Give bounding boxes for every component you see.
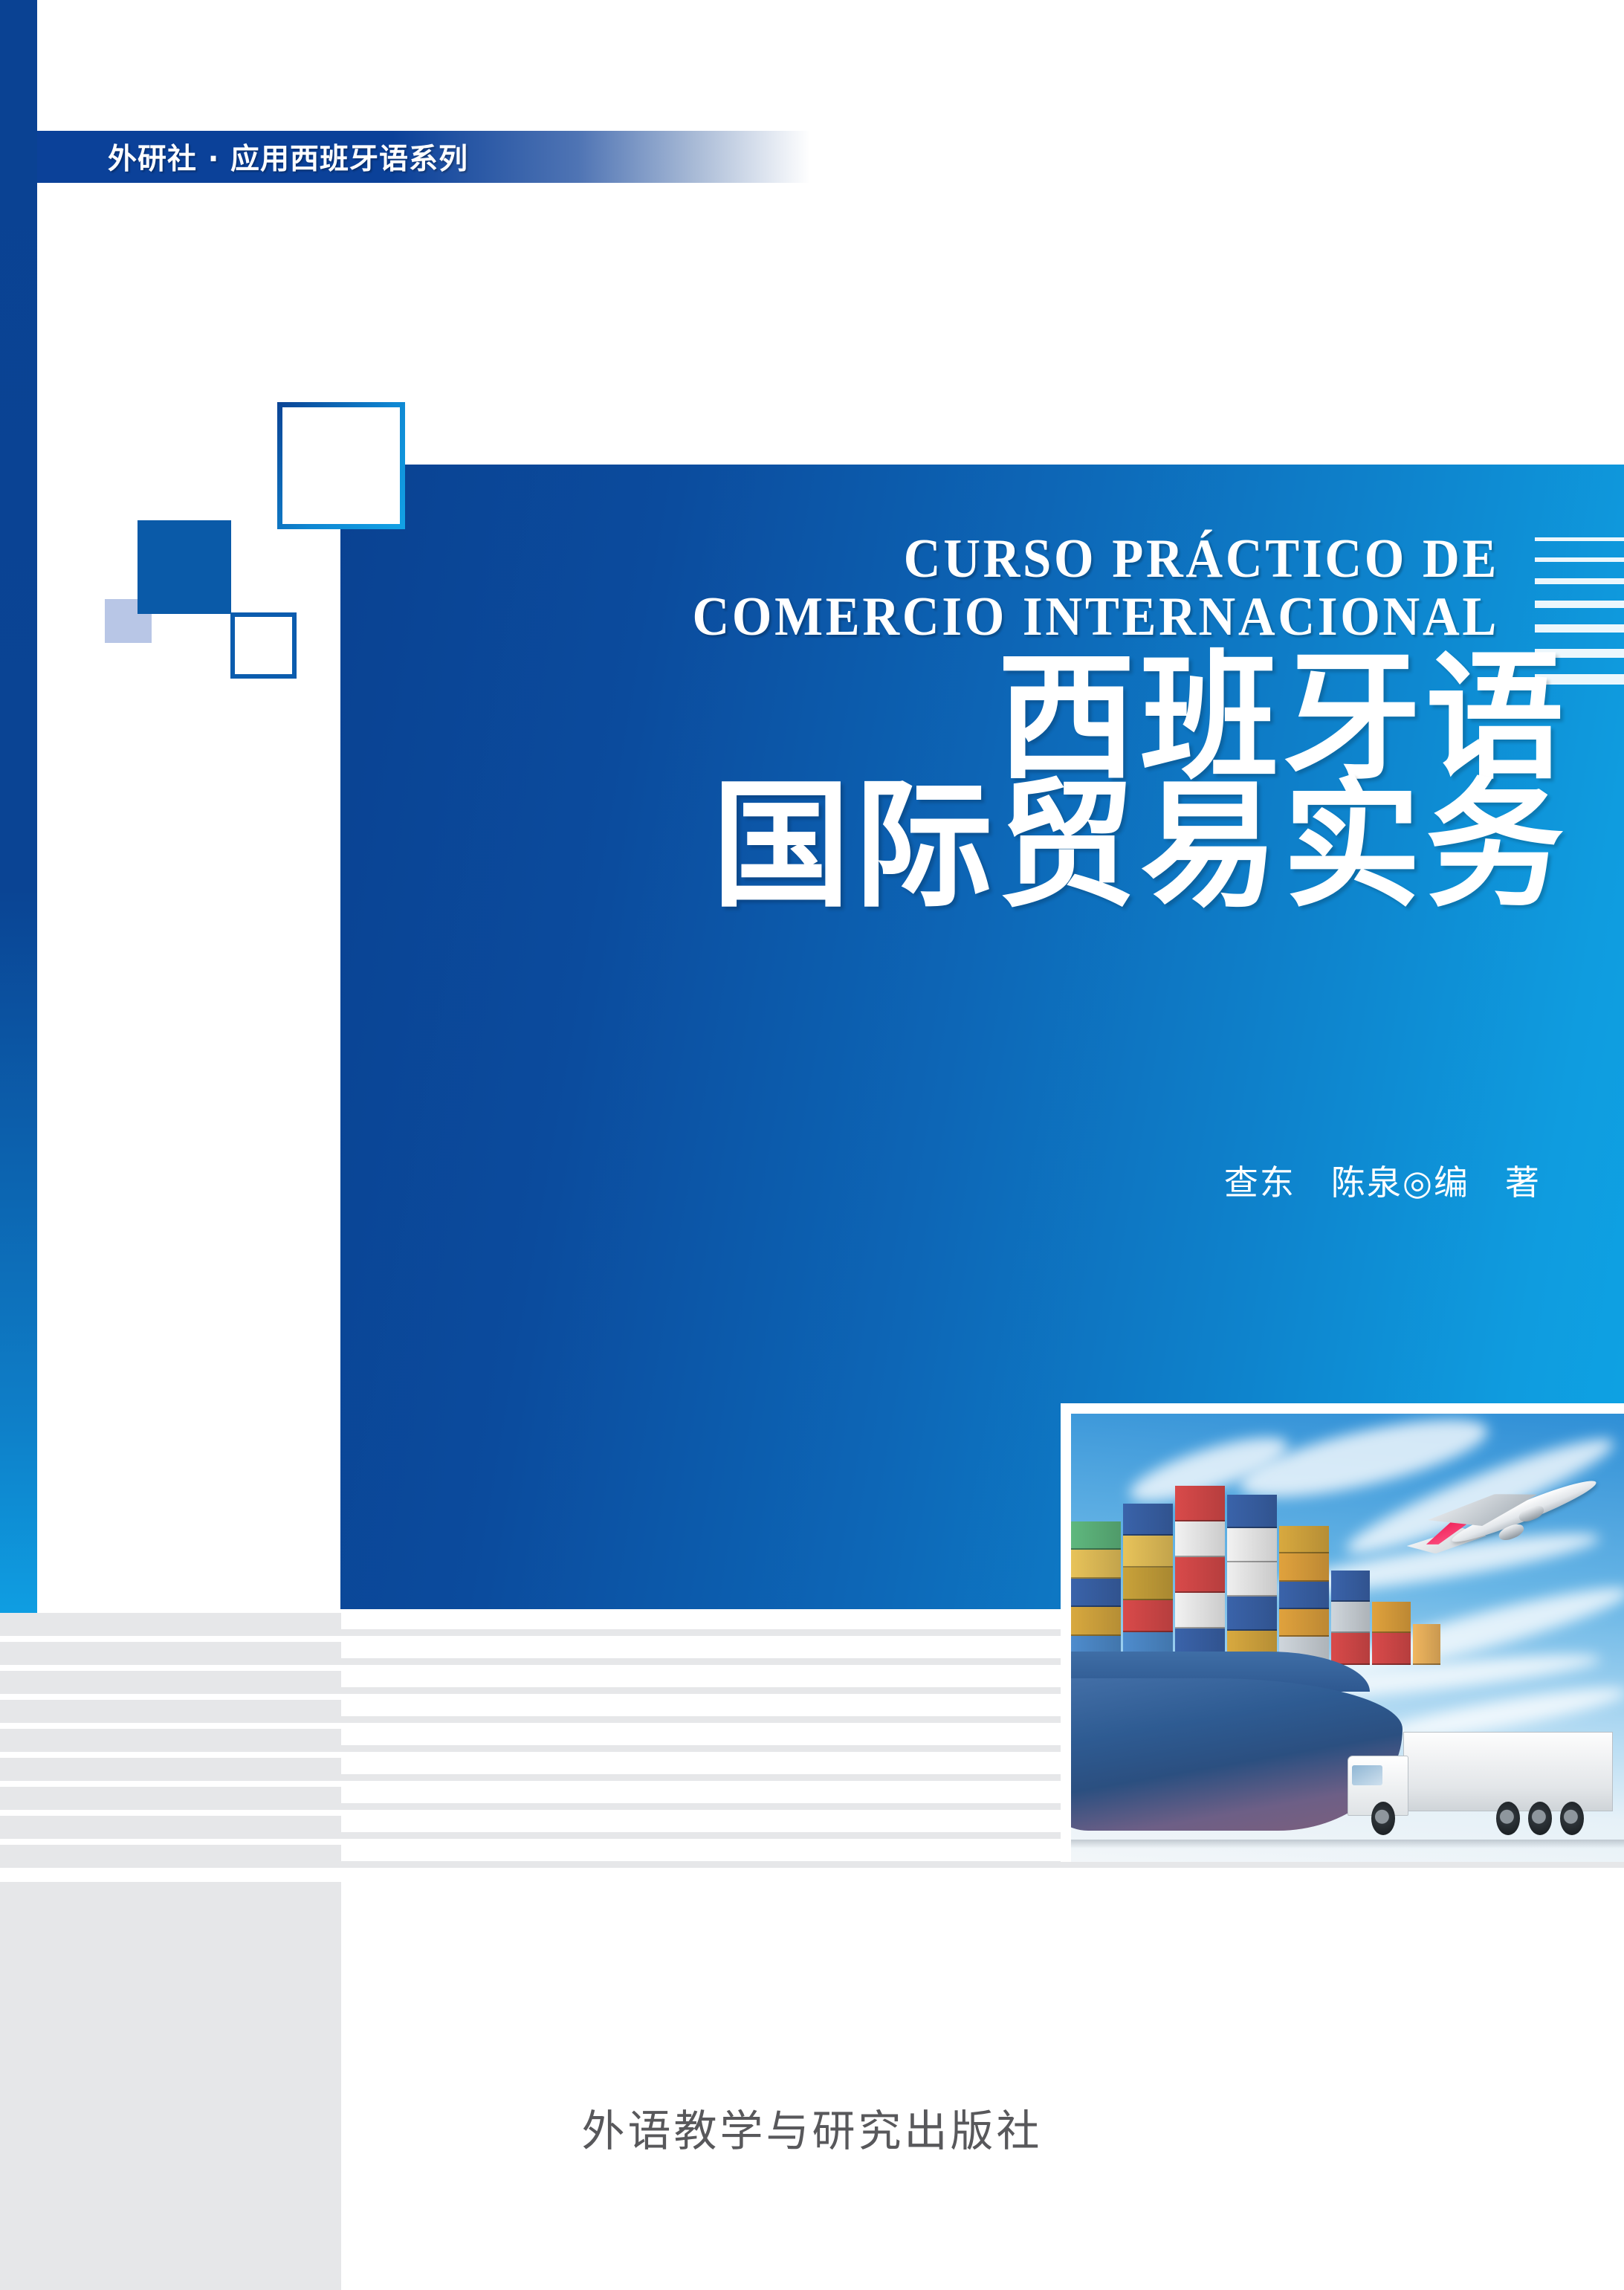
spine-accent-bar <box>0 0 37 1614</box>
decorative-rule <box>1535 624 1624 633</box>
decorative-rule <box>1535 537 1624 541</box>
chinese-title-line1: 西班牙语 <box>340 654 1568 782</box>
book-cover: 外研社 · 应用西班牙语系列 CURSO PRÁCTICO DE COMERCI… <box>0 0 1624 2290</box>
stripe-left-segment <box>0 1787 341 1810</box>
decorative-outline-square-large <box>277 402 405 529</box>
shipping-container <box>1413 1624 1440 1664</box>
shipping-container <box>1331 1633 1370 1664</box>
stripe-left-segment <box>0 1671 341 1694</box>
stripe-left-segment <box>0 1642 341 1665</box>
author-line: 查东 陈泉◎编 著 <box>340 1156 1541 1205</box>
decorative-rule <box>1535 557 1624 562</box>
shipping-container <box>1071 1607 1121 1636</box>
stripe-left-segment <box>0 1729 341 1752</box>
shipping-container <box>1123 1600 1173 1632</box>
cover-photo-frame <box>1061 1403 1624 1862</box>
truck-wheel <box>1560 1802 1584 1835</box>
truck-wheel <box>1528 1802 1552 1835</box>
shipping-container <box>1175 1486 1225 1521</box>
chinese-title: 西班牙语 国际贸易实务 <box>340 654 1568 910</box>
truck-wheel <box>1371 1802 1395 1835</box>
shipping-container <box>1331 1602 1370 1633</box>
shipping-container <box>1227 1495 1277 1529</box>
freight-truck-icon <box>1348 1727 1613 1835</box>
shipping-container <box>1175 1521 1225 1557</box>
container-stack <box>1413 1624 1440 1664</box>
shipping-container <box>1227 1528 1277 1562</box>
truck-windshield <box>1352 1765 1383 1785</box>
cargo-airplane-icon <box>1403 1467 1602 1584</box>
shipping-container <box>1071 1550 1121 1579</box>
shipping-container <box>1372 1602 1411 1633</box>
cover-photo <box>1071 1414 1624 1862</box>
ground-line <box>1071 1840 1624 1849</box>
shipping-container <box>1331 1571 1370 1602</box>
publisher-name: 外语教学与研究出版社 <box>0 2096 1624 2158</box>
shipping-container <box>1279 1553 1329 1581</box>
shipping-container <box>1175 1593 1225 1628</box>
stripe-left-segment <box>0 1700 341 1723</box>
shipping-container <box>1227 1562 1277 1597</box>
decorative-rule <box>1535 578 1624 584</box>
series-banner-label: 外研社 · 应用西班牙语系列 <box>108 136 468 178</box>
shipping-container <box>1071 1579 1121 1608</box>
container-stack <box>1279 1526 1329 1665</box>
container-stack <box>1175 1486 1225 1665</box>
series-banner: 外研社 · 应用西班牙语系列 <box>37 131 810 183</box>
container-stack <box>1331 1571 1370 1665</box>
container-stack <box>1227 1495 1277 1665</box>
shipping-container <box>1372 1633 1411 1664</box>
container-stack <box>1071 1521 1121 1665</box>
decorative-outline-square-small <box>230 612 297 679</box>
truck-trailer <box>1403 1732 1613 1811</box>
shipping-container <box>1227 1597 1277 1631</box>
shipping-container <box>1279 1609 1329 1637</box>
decorative-rule <box>1535 601 1624 608</box>
shipping-container <box>1279 1526 1329 1553</box>
stripe-left-segment <box>0 1816 341 1839</box>
chinese-title-line2: 国际贸易实务 <box>340 782 1568 910</box>
container-stack <box>1372 1602 1411 1664</box>
spanish-title-line1: CURSO PRÁCTICO DE <box>904 528 1499 589</box>
stripe-left-segment <box>0 1758 341 1781</box>
truck-wheel <box>1496 1802 1520 1835</box>
shipping-container <box>1123 1536 1173 1568</box>
shipping-container <box>1123 1568 1173 1600</box>
decorative-solid-square <box>138 520 231 614</box>
shipping-container <box>1175 1557 1225 1593</box>
stripe-left-segment <box>0 1613 341 1636</box>
shipping-container <box>1279 1582 1329 1609</box>
shipping-container <box>1123 1504 1173 1536</box>
shipping-container <box>1071 1521 1121 1550</box>
stripe-left-segment <box>0 1845 341 1868</box>
container-stack <box>1123 1504 1173 1665</box>
spanish-title: CURSO PRÁCTICO DE COMERCIO INTERNACIONAL <box>421 530 1499 646</box>
